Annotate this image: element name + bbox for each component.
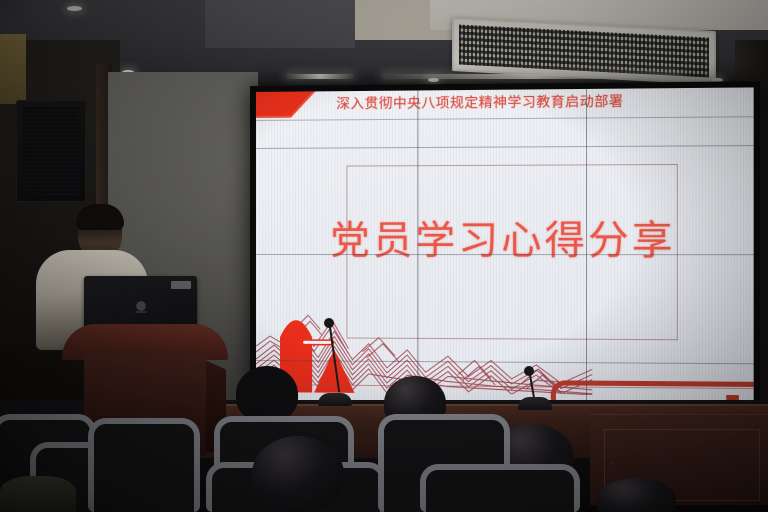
- vent-louvers: [459, 24, 709, 77]
- microphone-icon: [516, 366, 550, 410]
- ceiling-light-strip: [382, 74, 682, 79]
- audience-head: [236, 366, 298, 422]
- ceiling-light-strip: [286, 74, 354, 79]
- panel-seam-vertical: [586, 89, 587, 407]
- seat-row[interactable]: [420, 464, 580, 512]
- speaker-grille: [23, 107, 79, 195]
- audience-head: [252, 436, 344, 512]
- microphone-icon: [318, 318, 352, 406]
- wall-corner-trim: [0, 34, 26, 104]
- seat-row[interactable]: [88, 418, 200, 512]
- laptop-badge: [171, 281, 191, 289]
- seat-pad: [94, 424, 194, 512]
- mic-stem: [529, 375, 535, 399]
- seat-pad: [426, 470, 574, 512]
- mic-stem: [329, 327, 340, 393]
- panel-seam-horizontal: [256, 254, 754, 255]
- mic-base: [318, 393, 352, 406]
- header-divider: [256, 116, 754, 121]
- panel-seam-vertical: [417, 90, 418, 405]
- laptop-logo-icon: [132, 298, 150, 314]
- mic-base: [518, 397, 552, 410]
- ceiling-soffit-dark: [205, 0, 355, 48]
- presenter-hair: [76, 204, 124, 230]
- slide-main-title: 党员学习心得分享: [256, 209, 754, 267]
- wall-speaker-icon: [16, 100, 86, 202]
- downlight-icon: [67, 6, 82, 11]
- slide-header-title: 深入贯彻中央八项规定精神学习教育启动部署: [336, 92, 623, 115]
- audience-head: [0, 476, 76, 512]
- photo-scene: 深入贯彻中央八项规定精神学习教育启动部署 党员学习心得分享: [0, 0, 768, 512]
